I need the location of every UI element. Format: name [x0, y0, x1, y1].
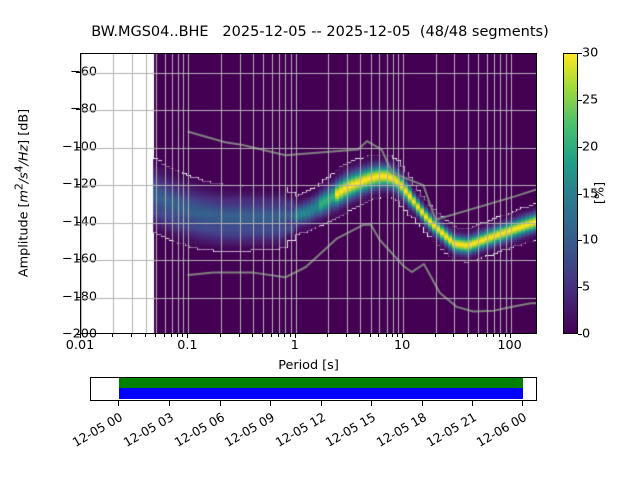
x-minor-tick-mark: [386, 334, 387, 337]
timeline-tick-mark: [270, 401, 271, 406]
timeline-tick-mark: [321, 401, 322, 406]
x-minor-tick-mark: [239, 334, 240, 337]
colorbar-tick-mark: [578, 334, 582, 335]
y-tick-mark: [76, 297, 80, 298]
y-tick-mark: [76, 147, 80, 148]
colorbar-tick-mark: [578, 240, 582, 241]
colorbar-tick-label: 5: [582, 280, 590, 295]
timeline-bar-bottom: [119, 388, 524, 399]
colorbar-tick-label: 10: [582, 233, 598, 248]
timeline-tick-mark: [118, 401, 119, 406]
colorbar-tick-label: 0: [582, 327, 590, 342]
axes-gridlines: [81, 54, 537, 334]
x-tick-mark: [187, 334, 188, 338]
x-axis-label: Period [s]: [80, 358, 537, 373]
x-minor-tick-mark: [290, 334, 291, 337]
timeline-tick-mark: [422, 401, 423, 406]
y-tick-mark: [76, 72, 80, 73]
x-tick-mark: [402, 334, 403, 338]
x-minor-tick-mark: [477, 334, 478, 337]
x-minor-tick-mark: [499, 334, 500, 337]
x-minor-tick-mark: [278, 334, 279, 337]
x-minor-tick-mark: [359, 334, 360, 337]
timeline-tick-label: 12-05 00: [62, 410, 124, 454]
y-tick-mark: [76, 109, 80, 110]
page-title: BW.MGS04..BHE 2025-12-05 -- 2025-12-05 (…: [0, 24, 640, 40]
colorbar-label: [%]: [593, 182, 608, 204]
x-minor-tick-mark: [435, 334, 436, 337]
x-minor-tick-mark: [220, 334, 221, 337]
x-tick-label: 1: [291, 338, 299, 353]
x-minor-tick-mark: [155, 334, 156, 337]
x-minor-tick-mark: [486, 334, 487, 337]
x-minor-tick-mark: [177, 334, 178, 337]
colorbar-tick-label: 30: [582, 46, 598, 61]
y-tick-mark: [76, 222, 80, 223]
x-minor-tick-mark: [505, 334, 506, 337]
x-minor-tick-mark: [164, 334, 165, 337]
colorbar-tick-mark: [578, 100, 582, 101]
x-minor-tick-mark: [271, 334, 272, 337]
x-minor-tick-mark: [378, 334, 379, 337]
timeline-tick-mark: [522, 401, 523, 406]
x-minor-tick-mark: [131, 334, 132, 337]
ppsd-plot-axes[interactable]: [80, 53, 537, 334]
x-minor-tick-mark: [262, 334, 263, 337]
x-minor-tick-mark: [370, 334, 371, 337]
x-tick-label: 10: [394, 338, 410, 353]
colorbar-tick-mark: [578, 147, 582, 148]
timeline-tick-mark: [220, 401, 221, 406]
x-tick-label: 100: [497, 338, 521, 353]
timeline-tick-mark: [169, 401, 170, 406]
x-minor-tick-mark: [252, 334, 253, 337]
y-tick-mark: [76, 259, 80, 260]
timeline-tick-label: 12-05 03: [114, 410, 176, 454]
x-minor-tick-mark: [453, 334, 454, 337]
x-minor-tick-mark: [346, 334, 347, 337]
x-tick-label: 0.01: [66, 338, 95, 353]
x-minor-tick-mark: [112, 334, 113, 337]
x-minor-tick-mark: [397, 334, 398, 337]
y-tick-mark: [76, 184, 80, 185]
colorbar-tick-mark: [578, 194, 582, 195]
colorbar: [563, 53, 578, 334]
x-tick-label: 0.1: [177, 338, 197, 353]
x-tick-mark: [510, 334, 511, 338]
x-minor-tick-mark: [392, 334, 393, 337]
colorbar-tick-mark: [578, 53, 582, 54]
colorbar-tick-label: 20: [582, 139, 598, 154]
x-minor-tick-mark: [493, 334, 494, 337]
x-minor-tick-mark: [171, 334, 172, 337]
colorbar-tick-mark: [578, 287, 582, 288]
timeline-tick-mark: [371, 401, 372, 406]
x-minor-tick-mark: [327, 334, 328, 337]
x-minor-tick-mark: [284, 334, 285, 337]
x-tick-mark: [295, 334, 296, 338]
x-minor-tick-mark: [182, 334, 183, 337]
x-tick-mark: [80, 334, 81, 338]
x-minor-tick-mark: [145, 334, 146, 337]
x-minor-tick-mark: [467, 334, 468, 337]
colorbar-tick-label: 25: [582, 92, 598, 107]
timeline-tick-mark: [472, 401, 473, 406]
data-coverage-timeline[interactable]: [90, 377, 537, 401]
